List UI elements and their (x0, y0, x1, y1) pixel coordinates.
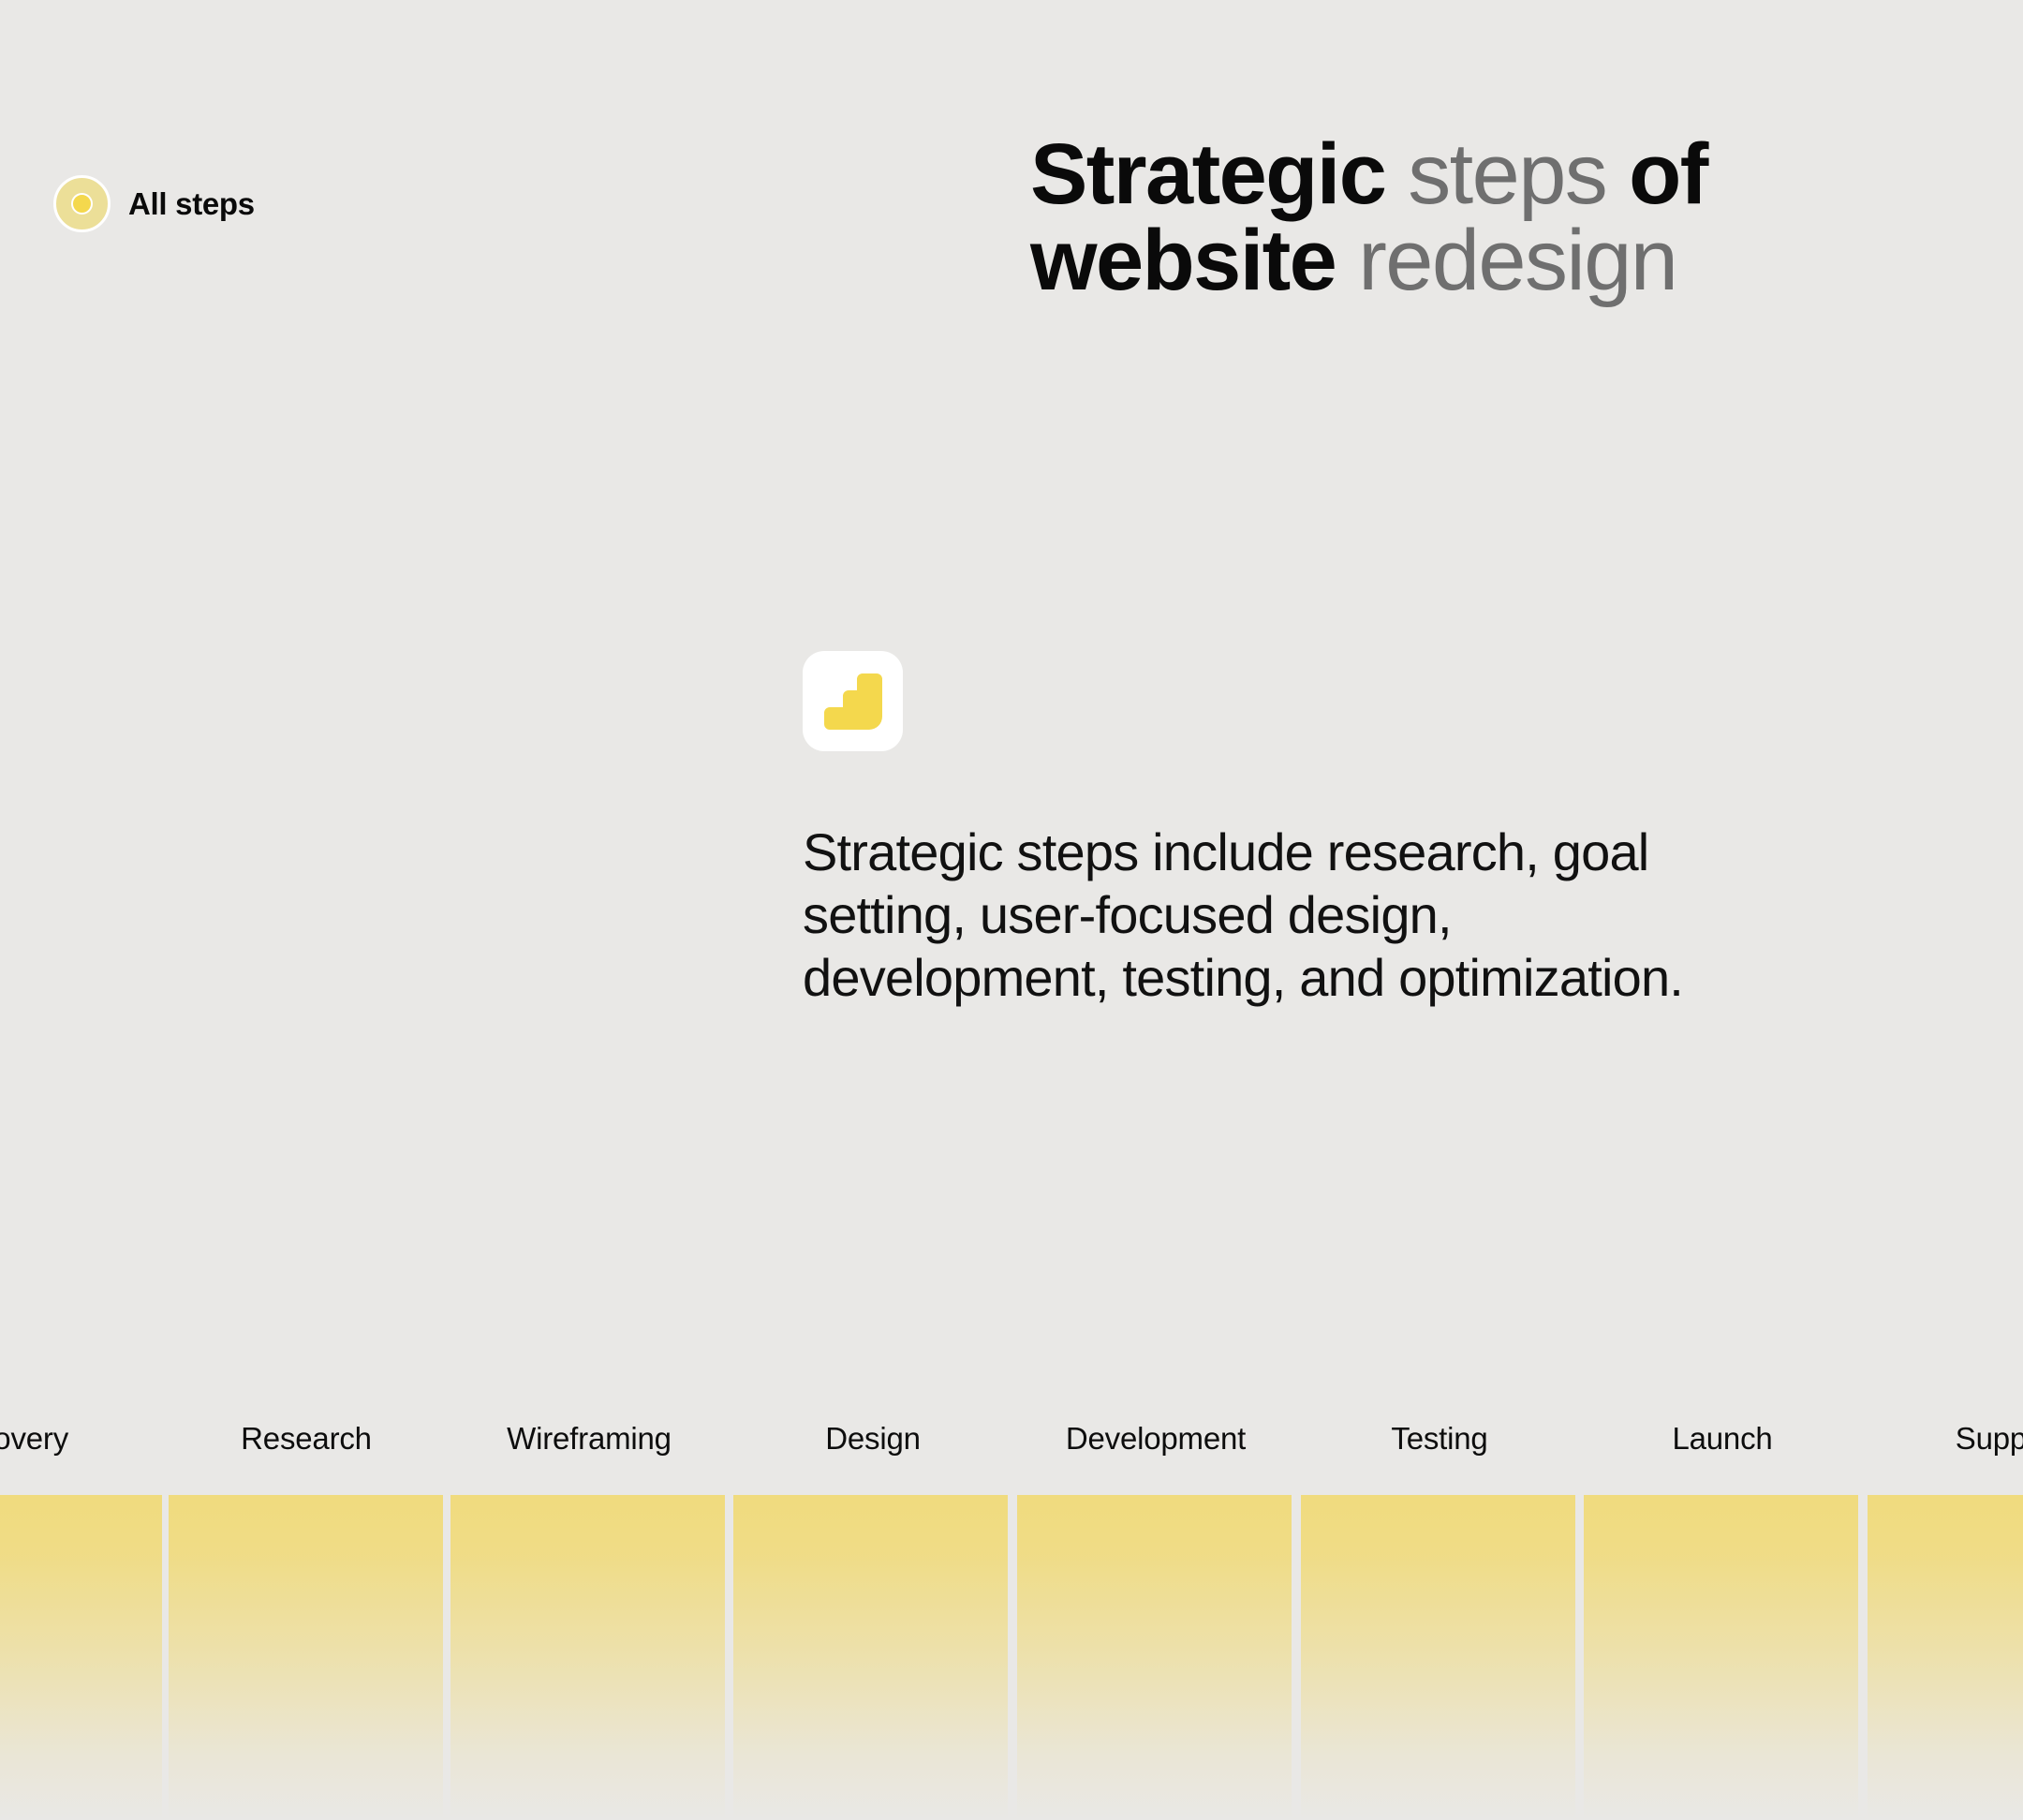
all-steps-legend[interactable]: All steps (53, 175, 255, 232)
step-column-design[interactable] (733, 1495, 1008, 1820)
step-label-design[interactable]: Design (825, 1421, 921, 1457)
circle-inner-dot-icon (71, 193, 93, 215)
step-columns-row (0, 1495, 2023, 1820)
step-label-launch[interactable]: Launch (1672, 1421, 1772, 1457)
headline-space-3 (1336, 213, 1358, 308)
step-column-testing[interactable] (1301, 1495, 1575, 1820)
page-title: Strategic steps of website redesign (1030, 131, 1779, 303)
headline-word-redesign: redesign (1358, 213, 1676, 308)
step-column-launch[interactable] (1584, 1495, 1858, 1820)
step-column-wireframing[interactable] (450, 1495, 725, 1820)
headline-space-1 (1385, 126, 1408, 222)
headline-word-of: of (1629, 126, 1707, 222)
feature-block: Strategic steps include research, goal s… (803, 651, 1749, 1010)
step-label-research[interactable]: Research (241, 1421, 372, 1457)
step-label-testing[interactable]: Testing (1391, 1421, 1487, 1457)
step-label-development[interactable]: Development (1066, 1421, 1246, 1457)
step-column-research[interactable] (169, 1495, 443, 1820)
stairs-steps-icon (824, 673, 882, 730)
step-column-discovery[interactable] (0, 1495, 162, 1820)
steps-timeline: coveryResearchWireframingDesignDevelopme… (0, 1389, 2023, 1820)
step-column-support[interactable] (1868, 1495, 2023, 1820)
headline-word-website: website (1030, 213, 1336, 308)
step-label-wireframing[interactable]: Wireframing (507, 1421, 672, 1457)
feature-description: Strategic steps include research, goal s… (803, 821, 1739, 1010)
step-column-development[interactable] (1017, 1495, 1292, 1820)
step-label-discovery[interactable]: covery (0, 1421, 68, 1457)
step-label-support[interactable]: Suppo (1956, 1421, 2023, 1457)
feature-icon-card (803, 651, 903, 751)
filled-circle-icon (53, 175, 111, 232)
all-steps-label: All steps (128, 186, 255, 222)
step-labels-row: coveryResearchWireframingDesignDevelopme… (0, 1389, 2023, 1511)
headline-word-strategic: Strategic (1030, 126, 1385, 222)
headline-space-2 (1606, 126, 1629, 222)
headline-word-steps: steps (1408, 126, 1606, 222)
